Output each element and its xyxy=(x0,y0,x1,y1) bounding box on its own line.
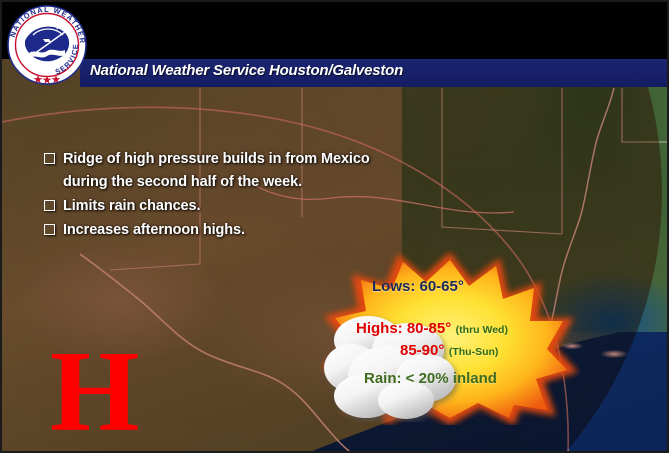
weather-graphic: H xyxy=(0,0,669,453)
highs-note-2: (Thu-Sun) xyxy=(449,346,499,358)
forecast-values: Lows: 60-65° Highs: 80-85° (thru Wed) 85… xyxy=(320,250,580,425)
lows-value: Lows: 60-65° xyxy=(372,278,464,295)
forecast-bullet-list: Ridge of high pressure builds in from Me… xyxy=(44,148,384,243)
highs-line-1: Highs: 80-85° (thru Wed) xyxy=(356,320,508,338)
list-item: Limits rain chances. xyxy=(44,195,384,218)
highs-line-2: 85-90° (Thu-Sun) xyxy=(400,342,498,360)
square-bullet-icon xyxy=(44,224,55,235)
square-bullet-icon xyxy=(44,153,55,164)
weather-icon-group: Lows: 60-65° Highs: 80-85° (thru Wed) 85… xyxy=(320,250,580,425)
rain-value: Rain: < 20% inland xyxy=(364,370,497,387)
list-item: Ridge of high pressure builds in from Me… xyxy=(44,148,384,194)
highs-value-1: Highs: 80-85° xyxy=(356,320,451,337)
office-subtitle: National Weather Service Houston/Galvest… xyxy=(90,62,403,79)
title-bar xyxy=(2,2,669,59)
bullet-text: Ridge of high pressure builds in from Me… xyxy=(63,148,384,194)
high-pressure-symbol: H xyxy=(50,342,139,442)
bullet-text: Limits rain chances. xyxy=(63,195,384,218)
highs-note-1: (thru Wed) xyxy=(456,324,508,336)
national-weather-service-logo: NATIONAL WEATHER SERVICE xyxy=(7,5,87,85)
highs-value-2: 85-90° xyxy=(400,342,444,359)
square-bullet-icon xyxy=(44,200,55,211)
bullet-text: Increases afternoon highs. xyxy=(63,219,384,242)
list-item: Increases afternoon highs. xyxy=(44,219,384,242)
